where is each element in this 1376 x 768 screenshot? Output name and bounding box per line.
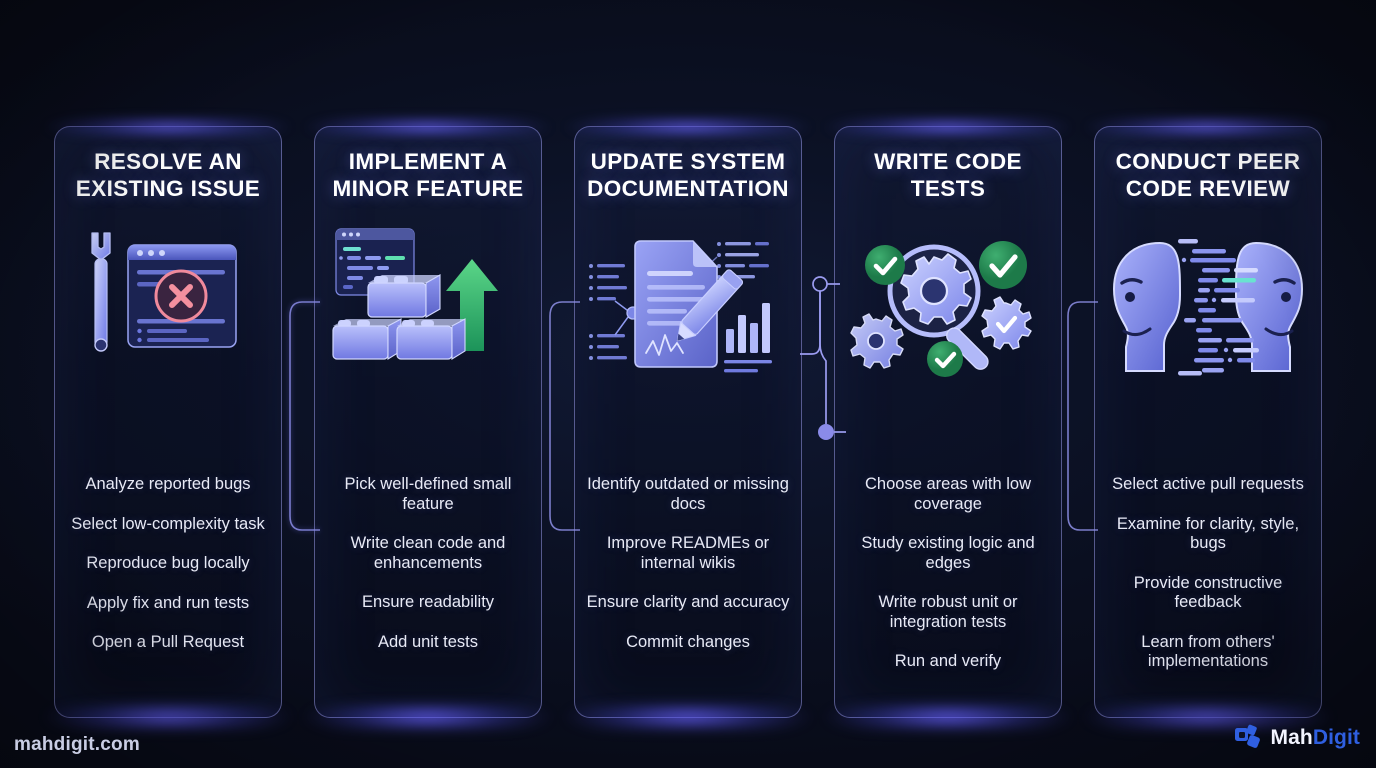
card-title: CONDUCT PEER CODE REVIEW — [1095, 149, 1321, 202]
brand-text-secondary: Digit — [1313, 726, 1360, 749]
card-glow-top — [37, 118, 299, 136]
building-blocks-code-window-up-arrow-icon — [328, 223, 528, 383]
list-item: Run and verify — [845, 652, 1051, 672]
magnifier-gears-checkmarks-icon — [848, 227, 1048, 387]
card-resolve-an-existing-issue[interactable]: RESOLVE AN EXISTING ISSUE — [54, 126, 282, 718]
card-update-system-documentation[interactable]: UPDATE SYSTEM DOCUMENTATION — [574, 126, 802, 718]
list-item: Apply fix and run tests — [65, 594, 271, 614]
list-item: Examine for clarity, style, bugs — [1105, 515, 1311, 554]
list-item: Ensure readability — [325, 593, 531, 613]
list-item: Write robust unit or integration tests — [845, 593, 1051, 632]
wrench-and-error-window-icon — [68, 227, 268, 387]
card-item-list: Identify outdated or missing docs Improv… — [585, 475, 791, 652]
brand-text: MahDigit — [1271, 726, 1360, 750]
infographic-canvas: RESOLVE AN EXISTING ISSUE — [0, 0, 1376, 768]
list-item: Pick well-defined small feature — [325, 475, 531, 514]
card-glow-top — [557, 118, 819, 136]
list-item: Improve READMEs or internal wikis — [585, 534, 791, 573]
card-glow-bottom — [37, 705, 299, 729]
document-with-pencil-icon — [583, 223, 793, 383]
list-item: Select active pull requests — [1105, 475, 1311, 495]
card-item-list: Select active pull requests Examine for … — [1105, 475, 1311, 672]
card-implement-a-minor-feature[interactable]: IMPLEMENT A MINOR FEATURE — [314, 126, 542, 718]
list-item: Identify outdated or missing docs — [585, 475, 791, 514]
brand-text-primary: Mah — [1271, 726, 1313, 749]
brand-logo[interactable]: MahDigit — [1234, 724, 1360, 752]
list-item: Learn from others' implementations — [1105, 633, 1311, 672]
card-glow-bottom — [817, 705, 1079, 729]
footer-site-url[interactable]: mahdigit.com — [14, 734, 140, 756]
two-faces-code-review-icon — [1102, 227, 1314, 387]
card-item-list: Analyze reported bugs Select low-complex… — [65, 475, 271, 653]
list-item: Provide constructive feedback — [1105, 574, 1311, 613]
list-item: Open a Pull Request — [65, 633, 271, 653]
list-item: Add unit tests — [325, 633, 531, 653]
card-item-list: Choose areas with low coverage Study exi… — [845, 475, 1051, 672]
list-item: Reproduce bug locally — [65, 554, 271, 574]
card-title: RESOLVE AN EXISTING ISSUE — [55, 149, 281, 202]
card-title: IMPLEMENT A MINOR FEATURE — [315, 149, 541, 202]
list-item: Commit changes — [585, 633, 791, 653]
list-item: Choose areas with low coverage — [845, 475, 1051, 514]
list-item: Ensure clarity and accuracy — [585, 593, 791, 613]
card-conduct-peer-code-review[interactable]: CONDUCT PEER CODE REVIEW — [1094, 126, 1322, 718]
card-glow-bottom — [557, 705, 819, 729]
card-title: WRITE CODE TESTS — [835, 149, 1061, 202]
list-item: Analyze reported bugs — [65, 475, 271, 495]
card-glow-top — [1077, 118, 1339, 136]
list-item: Study existing logic and edges — [845, 534, 1051, 573]
card-glow-top — [817, 118, 1079, 136]
card-glow-bottom — [297, 705, 559, 729]
list-item: Select low-complexity task — [65, 515, 271, 535]
mahdigit-logo-icon — [1234, 724, 1262, 752]
card-item-list: Pick well-defined small feature Write cl… — [325, 475, 531, 652]
card-glow-top — [297, 118, 559, 136]
cards-row: RESOLVE AN EXISTING ISSUE — [0, 0, 1376, 768]
list-item: Write clean code and enhancements — [325, 534, 531, 573]
card-write-code-tests[interactable]: WRITE CODE TESTS — [834, 126, 1062, 718]
card-title: UPDATE SYSTEM DOCUMENTATION — [575, 149, 801, 202]
